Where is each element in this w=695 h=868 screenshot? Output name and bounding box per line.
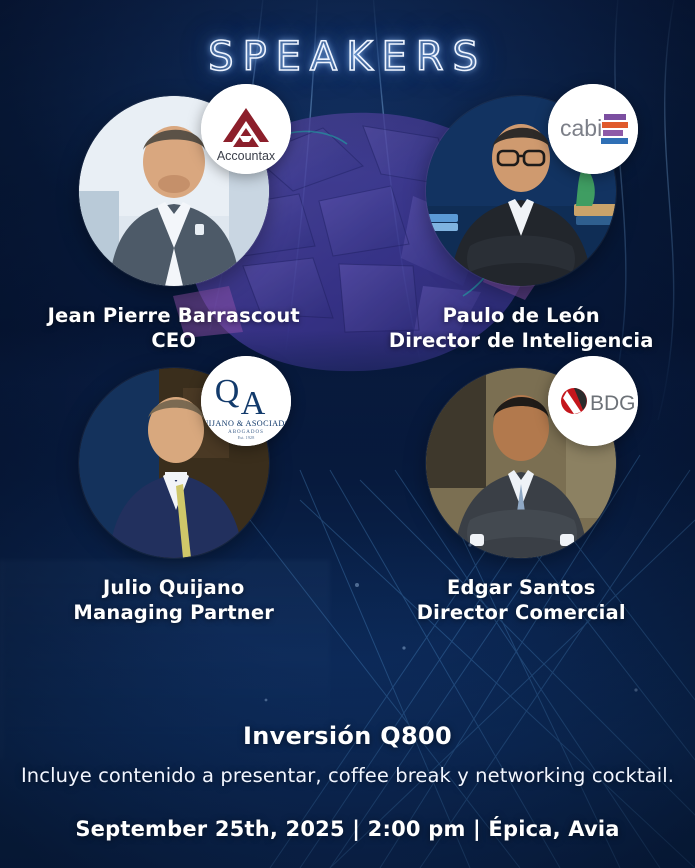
portrait-wrapper: Q A QUIJANO & ASOCIADOS ABOGADOS Est. 19… <box>79 368 269 558</box>
speaker-name: Paulo de León <box>348 304 695 329</box>
price-text: Inversión Q800 <box>0 722 695 750</box>
speaker-logo-bdg: BDG <box>548 356 638 446</box>
speaker-card-julio-quijano: Q A QUIJANO & ASOCIADOS ABOGADOS Est. 19… <box>0 368 348 626</box>
speaker-name: Jean Pierre Barrascout <box>0 304 348 329</box>
poster-footer: Inversión Q800 Incluye contenido a prese… <box>0 722 695 841</box>
speakers-grid: Accountax Jean Pierre Barrascout CEO <box>0 96 695 626</box>
speakers-row-2: Q A QUIJANO & ASOCIADOS ABOGADOS Est. 19… <box>0 368 695 626</box>
speakers-poster: SPEAKERS <box>0 0 695 868</box>
speaker-logo-cabi: cabi <box>548 84 638 174</box>
speaker-names: Paulo de León Director de Inteligencia <box>348 304 695 354</box>
speaker-logo-quijano-asociados: Q A QUIJANO & ASOCIADOS ABOGADOS Est. 19… <box>201 356 291 446</box>
logo-wordmark-bdg: BDG <box>590 392 636 415</box>
logo-monogram-a: A <box>240 385 265 422</box>
speaker-card-edgar-santos: BDG Edgar Santos Director Comercial <box>348 368 695 626</box>
speaker-names: Julio Quijano Managing Partner <box>0 576 348 626</box>
speaker-logo-accountax: Accountax <box>201 84 291 174</box>
logo-established-quijano: Est. 1928 <box>237 435 254 440</box>
logo-monogram-q: Q <box>214 373 239 410</box>
logo-mark-bdg <box>561 388 587 414</box>
portrait-wrapper: cabi <box>426 96 616 286</box>
speaker-card-jean-pierre-barrascout: Accountax Jean Pierre Barrascout CEO <box>0 96 348 354</box>
speaker-names: Edgar Santos Director Comercial <box>348 576 695 626</box>
speaker-card-paulo-de-leon: cabi Paulo de León Director de Inteligen <box>348 96 695 354</box>
portrait-wrapper: Accountax <box>79 96 269 286</box>
speaker-role: Director de Inteligencia <box>348 329 695 354</box>
event-datetime-venue: September 25th, 2025 | 2:00 pm | Épica, … <box>0 817 695 841</box>
logo-wordmark-quijano: QUIJANO & ASOCIADOS <box>201 419 291 428</box>
includes-text: Incluye contenido a presentar, coffee br… <box>0 764 695 787</box>
page-title: SPEAKERS <box>0 34 695 80</box>
speaker-name: Julio Quijano <box>0 576 348 601</box>
speaker-role: Managing Partner <box>0 601 348 626</box>
logo-wordmark-cabi: cabi <box>560 115 602 141</box>
portrait-wrapper: BDG <box>426 368 616 558</box>
speaker-names: Jean Pierre Barrascout CEO <box>0 304 348 354</box>
speaker-role: Director Comercial <box>348 601 695 626</box>
speaker-name: Edgar Santos <box>348 576 695 601</box>
speakers-row-1: Accountax Jean Pierre Barrascout CEO <box>0 96 695 354</box>
speaker-role: CEO <box>0 329 348 354</box>
logo-wordmark-accountax: Accountax <box>217 149 276 163</box>
